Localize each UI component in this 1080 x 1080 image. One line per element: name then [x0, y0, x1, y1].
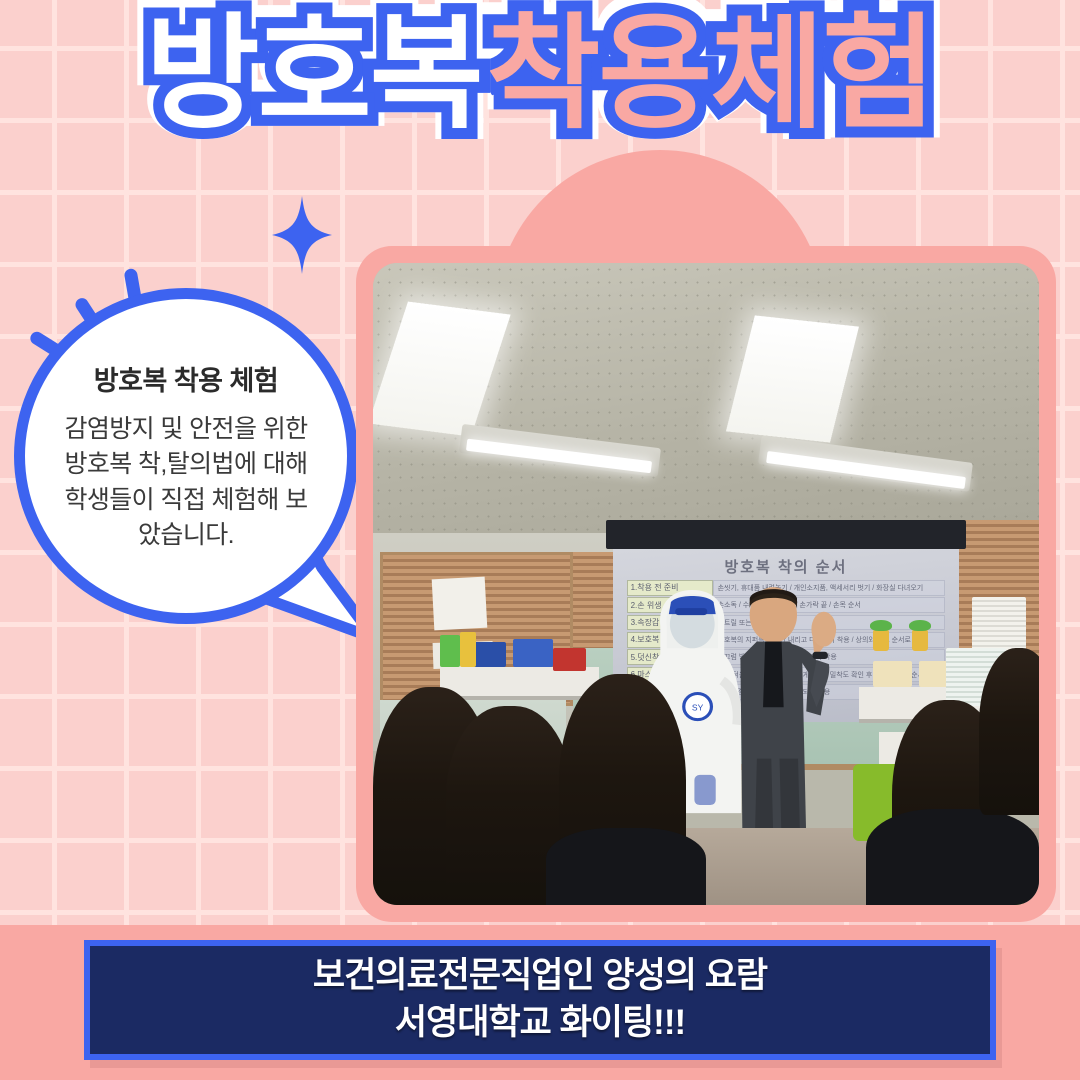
speech-bubble: 방호복 착용 체험 감염방지 및 안전을 위한 방호복 착,탈의법에 대해 학생… — [14, 288, 358, 624]
title-part-chagyongcheheom: 착용체험 — [486, 12, 934, 136]
banner-line-1: 보건의료전문직업인 양성의 요람 — [313, 953, 767, 1000]
supply-box — [440, 635, 460, 667]
sparkle-icon — [272, 196, 332, 274]
speech-bubble-body: 감염방지 및 안전을 위한 방호복 착,탈의법에 대해 학생들이 직접 체험해 … — [59, 412, 313, 554]
svg-text:SY: SY — [692, 704, 704, 713]
title-part-banghobok: 방호복 — [145, 12, 481, 136]
slide-title: 방호복 착의 순서 — [613, 556, 959, 577]
photo-frame: 방호복 착의 순서 1.착용 전 준비 손씻기, 휴대품 내려놓기 / 개인소지… — [356, 246, 1056, 922]
supply-box — [553, 648, 586, 670]
supply-desk-left — [440, 667, 600, 700]
supply-box — [460, 632, 477, 667]
student-seated — [979, 648, 1039, 815]
student-body — [866, 809, 1039, 905]
poster-card: 방호복 착용체험 방호복 착용체험 방호복 착용 체험 감염방지 및 안전을 위… — [0, 0, 1080, 1080]
wall-paper-note — [432, 576, 488, 630]
speech-bubble-heading: 방호복 착용 체험 — [94, 359, 278, 398]
banner-line-2: 서영대학교 화이팅!!! — [395, 1000, 685, 1047]
classroom-photo: 방호복 착의 순서 1.착용 전 준비 손씻기, 휴대품 내려놓기 / 개인소지… — [373, 263, 1039, 905]
supply-box — [873, 661, 913, 687]
projector-screen-bar — [606, 520, 966, 549]
bottom-banner: 보건의료전문직업인 양성의 요람 서영대학교 화이팅!!! — [84, 940, 996, 1060]
instructor — [726, 584, 839, 841]
plant-decoration — [873, 629, 889, 651]
plant-decoration — [912, 629, 928, 651]
student-body — [546, 828, 706, 905]
supply-box — [513, 639, 553, 668]
